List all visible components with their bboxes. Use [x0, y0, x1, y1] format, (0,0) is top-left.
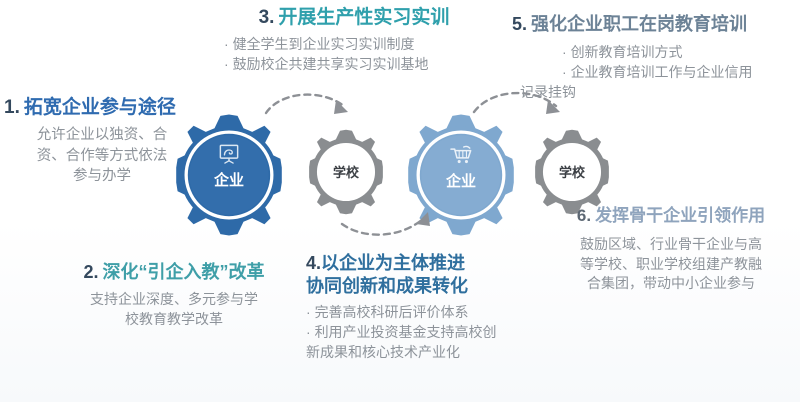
gear-school-2-label: 学校	[528, 162, 616, 181]
item-5-body: · 创新教育培训方式 · 企业教育培训工作与企业信用 记录挂钩	[512, 43, 800, 103]
item-5-bullet-text: 企业教育培训工作与企业信用	[571, 64, 753, 80]
item-6-body: 鼓励区域、行业骨干企业与高 等学校、职业学校组建产教融 合集团，带动中小企业参与	[546, 235, 796, 295]
item-6-title: 发挥骨干企业引领作用	[595, 206, 765, 225]
item-1-title: 拓宽企业参与途径	[24, 97, 176, 118]
item-2-heading: 2.深化“引企入教”改革	[48, 262, 300, 284]
item-1-body: 允许企业以独资、合 资、合作等方式依法 参与办学	[4, 125, 200, 187]
gear-enterprise-2-label: 企业	[398, 170, 524, 191]
item-4-number: 4.	[306, 253, 321, 273]
bullet-glyph: ·	[306, 324, 311, 340]
item-1-number: 1.	[4, 97, 20, 118]
item-2-title: 深化“引企入教”改革	[103, 262, 265, 282]
item-4-body-line: 新成果和核心技术产业化	[306, 343, 556, 363]
item-3-bullet: · 鼓励校企共建共享实习实训基地	[224, 55, 504, 75]
item-6-body-line: 鼓励区域、行业骨干企业与高	[546, 235, 796, 255]
item-4-bullet: · 利用产业投资基金支持高校创	[306, 323, 556, 343]
bullet-glyph: ·	[306, 304, 311, 320]
item-5-heading: 5.强化企业职工在岗教育培训	[512, 14, 800, 36]
item-3: 3.开展生产性实习实训 · 健全学生到企业实习实训制度 · 鼓励校企共建共享实习…	[204, 6, 504, 75]
item-1-body-line: 资、合作等方式依法	[4, 146, 200, 167]
item-6-number: 6.	[577, 206, 591, 225]
gear-school-2: 学校	[528, 128, 616, 216]
infographic-canvas: 企业 学校	[0, 0, 800, 402]
item-5-title: 强化企业职工在岗教育培训	[531, 14, 747, 34]
item-3-body: · 健全学生到企业实习实训制度 · 鼓励校企共建共享实习实训基地	[204, 35, 504, 75]
item-3-heading: 3.开展生产性实习实训	[204, 6, 504, 29]
item-2-body: 支持企业深度、多元参与学 校教育教学改革	[48, 290, 300, 330]
item-3-bullet-text: 健全学生到企业实习实训制度	[233, 36, 415, 52]
item-1-body-line: 参与办学	[4, 166, 200, 187]
item-5-bullet-text: 创新教育培训方式	[571, 44, 683, 60]
item-4-bullet-text: 完善高校科研后评价体系	[315, 304, 469, 320]
arrow-school1-to-enterprise2	[338, 196, 442, 244]
item-4-title-line: 以企业为主体推进	[321, 253, 465, 273]
bullet-glyph: ·	[562, 44, 567, 60]
item-6-body-line: 等学校、职业学校组建产教融	[546, 255, 796, 275]
item-5-bullet: · 企业教育培训工作与企业信用	[562, 63, 800, 83]
shopping-cart-icon	[398, 145, 524, 165]
item-3-number: 3.	[259, 7, 275, 28]
arrow-enterprise1-to-school1	[262, 86, 362, 130]
bullet-glyph: ·	[224, 56, 229, 72]
item-6: 6.发挥骨干企业引领作用 鼓励区域、行业骨干企业与高 等学校、职业学校组建产教融…	[546, 206, 796, 294]
item-1-body-line: 允许企业以独资、合	[4, 125, 200, 146]
item-4-title-line: 协同创新和成果转化	[306, 275, 556, 298]
bullet-glyph: ·	[224, 36, 229, 52]
item-2-number: 2.	[83, 262, 98, 282]
bullet-glyph: ·	[562, 64, 567, 80]
item-1-heading: 1.拓宽企业参与途径	[4, 96, 200, 119]
item-4-body: · 完善高校科研后评价体系 · 利用产业投资基金支持高校创 新成果和核心技术产业…	[306, 303, 556, 363]
item-6-body-line: 合集团，带动中小企业参与	[546, 274, 796, 294]
item-3-bullet: · 健全学生到企业实习实训制度	[224, 35, 504, 55]
item-4-heading: 4.以企业为主体推进 协同创新和成果转化	[306, 252, 556, 297]
item-2-body-line: 校教育教学改革	[48, 310, 300, 330]
item-4-bullet-text: 利用产业投资基金支持高校创	[315, 324, 497, 340]
item-3-title: 开展生产性实习实训	[278, 7, 449, 28]
item-2: 2.深化“引企入教”改革 支持企业深度、多元参与学 校教育教学改革	[48, 262, 300, 330]
item-1: 1.拓宽企业参与途径 允许企业以独资、合 资、合作等方式依法 参与办学	[4, 96, 200, 187]
gear-school-1-label: 学校	[302, 162, 390, 181]
item-5-body-line: 记录挂钩	[520, 83, 800, 103]
item-2-body-line: 支持企业深度、多元参与学	[48, 290, 300, 310]
item-4: 4.以企业为主体推进 协同创新和成果转化 · 完善高校科研后评价体系 · 利用产…	[306, 252, 556, 363]
item-4-title-row-1: 4.以企业为主体推进	[306, 252, 556, 275]
item-5-number: 5.	[512, 14, 527, 34]
item-6-heading: 6.发挥骨干企业引领作用	[546, 206, 796, 227]
item-4-bullet: · 完善高校科研后评价体系	[306, 303, 556, 323]
item-5: 5.强化企业职工在岗教育培训 · 创新教育培训方式 · 企业教育培训工作与企业信…	[512, 14, 800, 103]
item-3-bullet-text: 鼓励校企共建共享实习实训基地	[233, 56, 429, 72]
item-5-bullet: · 创新教育培训方式	[562, 43, 800, 63]
